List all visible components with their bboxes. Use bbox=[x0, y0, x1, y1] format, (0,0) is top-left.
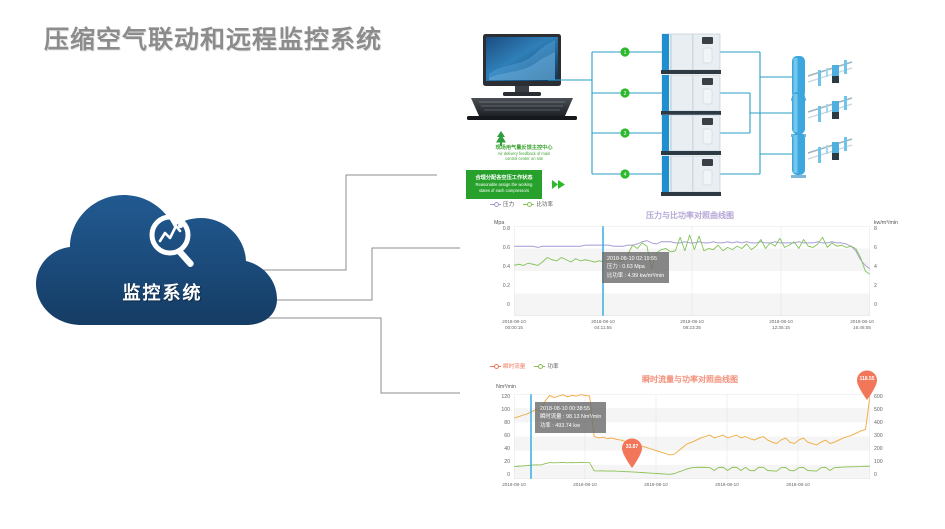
chart1-xtick-4: 2018-08-10 16:46:55 bbox=[832, 319, 892, 330]
chart2-y2tick-6: 0 bbox=[874, 472, 892, 478]
chart2-marker-min[interactable]: 33.87 bbox=[621, 438, 643, 468]
chart2-ytick-2: 80 bbox=[480, 420, 510, 426]
chart1-y2tick-3: 2 bbox=[874, 283, 890, 289]
chart1-ytick-4: 0 bbox=[480, 302, 510, 308]
chart1-xtick-3: 2018-08-10 12:35:15 bbox=[751, 319, 811, 330]
chart2-marker-min-value: 33.87 bbox=[621, 444, 643, 450]
chart2-ytick-3: 60 bbox=[480, 433, 510, 439]
air-tanks-and-lines bbox=[791, 56, 852, 178]
chart2-y2tick-5: 100 bbox=[874, 459, 892, 465]
compressor-units bbox=[661, 34, 721, 196]
magnifier-chart-icon bbox=[142, 211, 208, 273]
chart2-xtick-4: 2018-08-10 bbox=[768, 482, 828, 488]
chart1-legend: 压力 比功率 bbox=[490, 200, 553, 208]
chart1-y2tick-1: 6 bbox=[874, 245, 890, 251]
chart2-legend: 瞬时流量 功率 bbox=[490, 362, 559, 370]
legend-item-power[interactable]: 功率 bbox=[534, 362, 558, 370]
chart-flow-power: 瞬时流量 功率 瞬时流量与功率对照曲线图 Nm³/min 120 100 80 … bbox=[480, 362, 900, 522]
system-diagram: 现场用气量反馈主控中心 Air delivery feedback of mai… bbox=[440, 22, 940, 202]
legend-label-pressure: 压力 bbox=[503, 200, 514, 208]
chart1-xtick-0: 2018-08-10 00:00:15 bbox=[484, 319, 544, 330]
chart1-tooltip: 2018-08-10 02:19:55 压力 : 0.63 Mpa 比功率 : … bbox=[602, 252, 669, 283]
legend-label-power: 功率 bbox=[547, 362, 558, 370]
chart2-xtick-1-date: 2018-08-10 bbox=[555, 482, 615, 488]
chart2-y2tick-4: 200 bbox=[874, 446, 892, 452]
chart2-tooltip: 2018-08-10 00:38:55 瞬时流量 : 98.13 Nm³/min… bbox=[535, 402, 606, 433]
teardrop-marker-icon bbox=[621, 438, 643, 468]
chart1-tooltip-line2: 比功率 : 4.99 kw/m³/min bbox=[607, 272, 664, 280]
slide-root: 压缩空气联动和远程监控系统 bbox=[0, 0, 945, 529]
chart2-marker-max-value: 118.55 bbox=[856, 376, 878, 382]
chart1-xtick-1-time: 04:11:55 bbox=[573, 325, 633, 331]
chart1-tooltip-timestamp: 2018-08-10 02:19:55 bbox=[607, 255, 664, 263]
chart1-xtick-0-time: 00:00:15 bbox=[484, 325, 544, 331]
chart2-tooltip-line2: 功率 : 493.74 kw bbox=[540, 422, 601, 430]
chart1-plot[interactable] bbox=[514, 226, 870, 316]
chart2-xtick-3-date: 2018-08-10 bbox=[697, 482, 757, 488]
chart2-xtick-1: 2018-08-10 bbox=[555, 482, 615, 488]
legend-marker-specific-power bbox=[523, 202, 534, 207]
legend-marker-pressure bbox=[490, 202, 501, 207]
chart2-y2tick-2: 400 bbox=[874, 420, 892, 426]
svg-text:2: 2 bbox=[624, 91, 627, 97]
chart1-xtick-4-time: 16:46:55 bbox=[832, 325, 892, 331]
chart1-ytick-0: 0.8 bbox=[480, 226, 510, 232]
svg-text:3: 3 bbox=[624, 131, 627, 137]
chart1-y2tick-2: 4 bbox=[874, 264, 890, 270]
chart2-xtick-0: 2018-08-10 bbox=[484, 482, 544, 488]
chart2-marker-max[interactable]: 118.55 bbox=[856, 370, 878, 400]
chart2-ytick-6: 0 bbox=[480, 472, 510, 478]
legend-item-pressure[interactable]: 压力 bbox=[490, 200, 514, 208]
chart1-y2tick-4: 0 bbox=[874, 302, 890, 308]
chart2-title: 瞬时流量与功率对照曲线图 bbox=[480, 374, 900, 385]
legend-item-instant-flow[interactable]: 瞬时流量 bbox=[490, 362, 525, 370]
cloud-label: 监控系统 bbox=[30, 279, 295, 305]
chart2-y2tick-3: 300 bbox=[874, 433, 892, 439]
chart-pressure-specific-power: 压力 比功率 压力与比功率对照曲线图 Mpa kw/m³/min 0.8 0.6… bbox=[480, 200, 900, 335]
svg-text:4: 4 bbox=[624, 172, 627, 178]
chart1-xtick-3-time: 12:35:15 bbox=[751, 325, 811, 331]
chart1-xtick-2-time: 08:23:35 bbox=[662, 325, 722, 331]
chart2-y-unit: Nm³/min bbox=[496, 384, 516, 390]
legend-marker-instant-flow bbox=[490, 364, 501, 369]
chart2-tooltip-line1: 瞬时流量 : 98.13 Nm³/min bbox=[540, 413, 601, 421]
chart1-ytick-3: 0.2 bbox=[480, 283, 510, 289]
chart1-ytick-2: 0.4 bbox=[480, 264, 510, 270]
chart1-xtick-2: 2018-08-10 08:23:35 bbox=[662, 319, 722, 330]
chart1-xtick-1: 2018-08-10 04:11:55 bbox=[573, 319, 633, 330]
legend-label-instant-flow: 瞬时流量 bbox=[503, 362, 525, 370]
legend-item-specific-power[interactable]: 比功率 bbox=[523, 200, 553, 208]
chart2-ytick-5: 20 bbox=[480, 459, 510, 465]
chart1-tooltip-line1: 压力 : 0.63 Mpa bbox=[607, 263, 664, 271]
chart2-y2tick-1: 500 bbox=[874, 407, 892, 413]
chart2-xtick-2-date: 2018-08-10 bbox=[626, 482, 686, 488]
legend-label-specific-power: 比功率 bbox=[536, 200, 553, 208]
monitoring-cloud[interactable]: 监控系统 bbox=[30, 185, 295, 340]
chart2-ytick-0: 120 bbox=[480, 394, 510, 400]
chart2-ytick-1: 100 bbox=[480, 407, 510, 413]
chart1-title: 压力与比功率对照曲线图 bbox=[480, 210, 900, 221]
legend-marker-power bbox=[534, 364, 545, 369]
plant-schematic: 1 2 3 4 bbox=[440, 22, 940, 202]
chart2-xtick-0-date: 2018-08-10 bbox=[484, 482, 544, 488]
svg-text:1: 1 bbox=[624, 50, 627, 56]
teardrop-marker-icon bbox=[856, 370, 878, 400]
chart2-xtick-2: 2018-08-10 bbox=[626, 482, 686, 488]
chart1-y2tick-0: 8 bbox=[874, 226, 890, 232]
chart1-ytick-1: 0.6 bbox=[480, 245, 510, 251]
chart2-xtick-4-date: 2018-08-10 bbox=[768, 482, 828, 488]
compressor-badges: 1 2 3 4 bbox=[620, 47, 629, 178]
chart2-tooltip-timestamp: 2018-08-10 00:38:55 bbox=[540, 405, 601, 413]
chart2-ytick-4: 40 bbox=[480, 446, 510, 452]
chart2-xtick-3: 2018-08-10 bbox=[697, 482, 757, 488]
